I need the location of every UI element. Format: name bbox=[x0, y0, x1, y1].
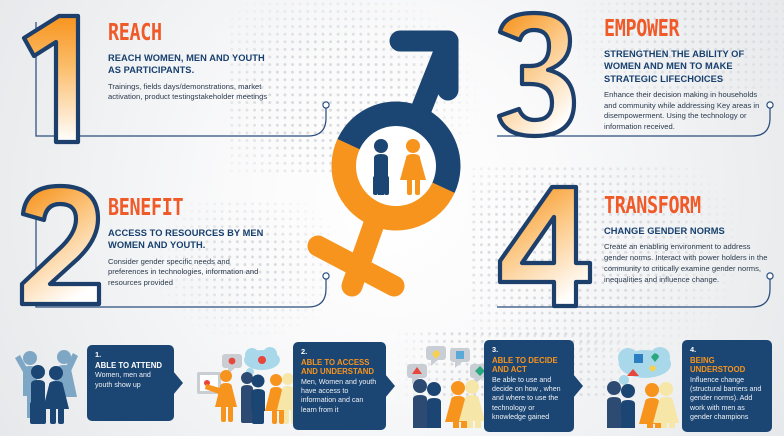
timeline-title-4: BEING UNDERSTOOD bbox=[690, 356, 764, 375]
quadrant-body-1: Trainings, fields days/demonstrations, m… bbox=[108, 82, 268, 104]
quadrant-number-4 bbox=[490, 181, 598, 316]
quadrant-subtitle-1: REACH WOMEN, MEN AND YOUTH AS PARTICIPAN… bbox=[108, 52, 268, 77]
timeline-title-2: ABLE TO ACCESS AND UNDERSTAND bbox=[301, 358, 378, 377]
icon-group-four-people-arms-raised bbox=[14, 344, 80, 431]
quadrant-text-3: EMPOWER STRENGTHEN THE ABILITY OF WOMEN … bbox=[604, 18, 772, 133]
callout-arrow-tip-3 bbox=[573, 374, 583, 398]
quadrant-subtitle-2: ACCESS TO RESOURCES BY MEN WOMEN AND YOU… bbox=[108, 227, 270, 252]
timeline-callout-2[interactable]: 2. ABLE TO ACCESS AND UNDERSTAND Men, Wo… bbox=[293, 342, 386, 430]
timeline-callout-4[interactable]: 4. BEING UNDERSTOOD Influence change (st… bbox=[682, 340, 772, 432]
quadrant-body-4: Create an enabling environment to addres… bbox=[604, 242, 774, 285]
timeline-body-3: Be able to use and decide on how , when … bbox=[492, 376, 566, 422]
infographic-canvas: REACH REACH WOMEN, MEN AND YOUTH AS PART… bbox=[0, 0, 784, 436]
gender-symbol-emblem bbox=[296, 18, 496, 318]
quadrant-subtitle-4: CHANGE GENDER NORMS bbox=[604, 225, 774, 237]
timeline-number-4: 4. bbox=[690, 346, 764, 355]
timeline-title-1: ABLE TO ATTEND bbox=[95, 361, 166, 371]
quadrant-text-1: REACH REACH WOMEN, MEN AND YOUTH AS PART… bbox=[108, 22, 268, 103]
quadrant-kicker-2: BENEFIT bbox=[108, 197, 238, 220]
timeline-number-2: 2. bbox=[301, 348, 378, 357]
timeline-number-1: 1. bbox=[95, 351, 166, 360]
quadrant-kicker-4: TRANSFORM bbox=[604, 195, 740, 218]
quadrant-text-4: TRANSFORM CHANGE GENDER NORMS Create an … bbox=[604, 195, 774, 285]
callout-arrow-tip-1 bbox=[173, 371, 183, 395]
quadrant-number-1 bbox=[12, 12, 104, 152]
timeline-body-4: Influence change (structural barriers an… bbox=[690, 376, 764, 422]
quadrant-kicker-1: REACH bbox=[108, 22, 236, 45]
quadrant-subtitle-3: STRENGTHEN THE ABILITY OF WOMEN AND MEN … bbox=[604, 48, 772, 85]
icon-group-presenter-board-audience bbox=[196, 342, 296, 433]
icon-group-four-people-shared-thought-cloud bbox=[600, 342, 686, 433]
timeline-callout-3[interactable]: 3. ABLE TO DECIDE AND ACT Be able to use… bbox=[484, 340, 574, 432]
timeline-strip: 1. ABLE TO ATTEND Women, men and youth s… bbox=[0, 336, 784, 436]
timeline-body-1: Women, men and youth show up bbox=[95, 371, 166, 389]
timeline-body-2: Men, Women and youth have access to info… bbox=[301, 378, 378, 415]
timeline-title-3: ABLE TO DECIDE AND ACT bbox=[492, 356, 566, 375]
icon-group-four-people-speech-bubbles bbox=[406, 342, 492, 433]
man-figure bbox=[373, 139, 389, 195]
quadrant-text-2: BENEFIT ACCESS TO RESOURCES BY MEN WOMEN… bbox=[108, 197, 270, 289]
callout-arrow-tip-2 bbox=[385, 374, 395, 398]
timeline-number-3: 3. bbox=[492, 346, 566, 355]
quadrant-body-2: Consider gender specific needs and prefe… bbox=[108, 257, 270, 289]
quadrant-kicker-3: EMPOWER bbox=[604, 18, 738, 41]
quadrant-number-2 bbox=[10, 180, 115, 315]
timeline-callout-1[interactable]: 1. ABLE TO ATTEND Women, men and youth s… bbox=[87, 345, 174, 421]
quadrant-number-3 bbox=[486, 8, 591, 148]
quadrant-body-3: Enhance their decision making in househo… bbox=[604, 90, 772, 133]
